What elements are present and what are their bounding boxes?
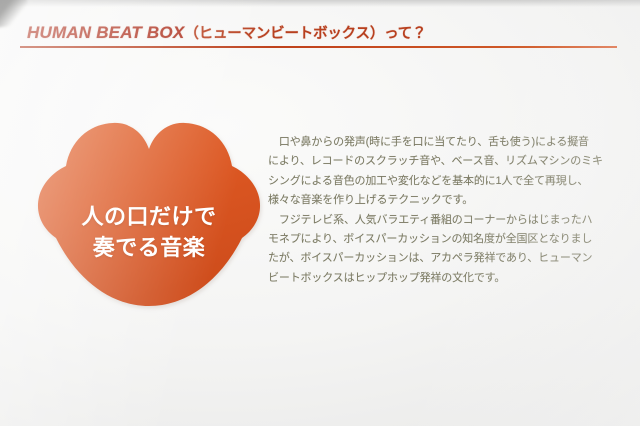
slide-header: HUMAN BEAT BOX（ヒューマンビートボックス）って？ xyxy=(27,22,618,52)
paragraph-1-line-2: により、レコードのスクラッチ音や、ベース音、リズムマシンのミキ xyxy=(268,152,568,171)
paragraph-2-line-2: モネプにより、ボイスパーカッションの知名度が全国区となりまし xyxy=(268,230,568,249)
room-corner-shadow xyxy=(0,0,30,28)
presentation-slide: HUMAN BEAT BOX（ヒューマンビートボックス）って？ 人の口だけで 奏… xyxy=(0,0,640,426)
paragraph-1-line-4: 様々な音楽を作り上げるテクニックです。 xyxy=(268,191,568,210)
paragraph-2-line-1: フジテレビ系、人気バラエティ番組のコーナーからはじまったハ xyxy=(268,211,568,230)
lips-shape-icon xyxy=(33,120,265,310)
body-copy: 口や鼻からの発声(時に手を口に当てたり、舌も使う)による擬音 により、レコードの… xyxy=(268,133,568,288)
page-title-english: HUMAN BEAT BOX xyxy=(27,23,184,42)
paragraph-1-line-3: シングによる音色の加工や変化などを基本的に1人で全て再現し、 xyxy=(268,172,568,191)
title-underline-rule xyxy=(20,46,617,48)
lips-graphic: 人の口だけで 奏でる音楽 xyxy=(33,120,265,310)
page-title-japanese: （ヒューマンビートボックス）って？ xyxy=(184,26,426,42)
paragraph-2-line-4: ビートボックスはヒップホップ発祥の文化です。 xyxy=(268,269,568,288)
screen-top-shadow xyxy=(0,0,640,7)
paragraph-1-line-1: 口や鼻からの発声(時に手を口に当てたり、舌も使う)による擬音 xyxy=(268,133,568,152)
paragraph-2-line-3: たが、ボイスパーカッションは、アカペラ発祥であり、ヒューマン xyxy=(268,249,568,268)
page-title: HUMAN BEAT BOX（ヒューマンビートボックス）って？ xyxy=(27,22,426,45)
